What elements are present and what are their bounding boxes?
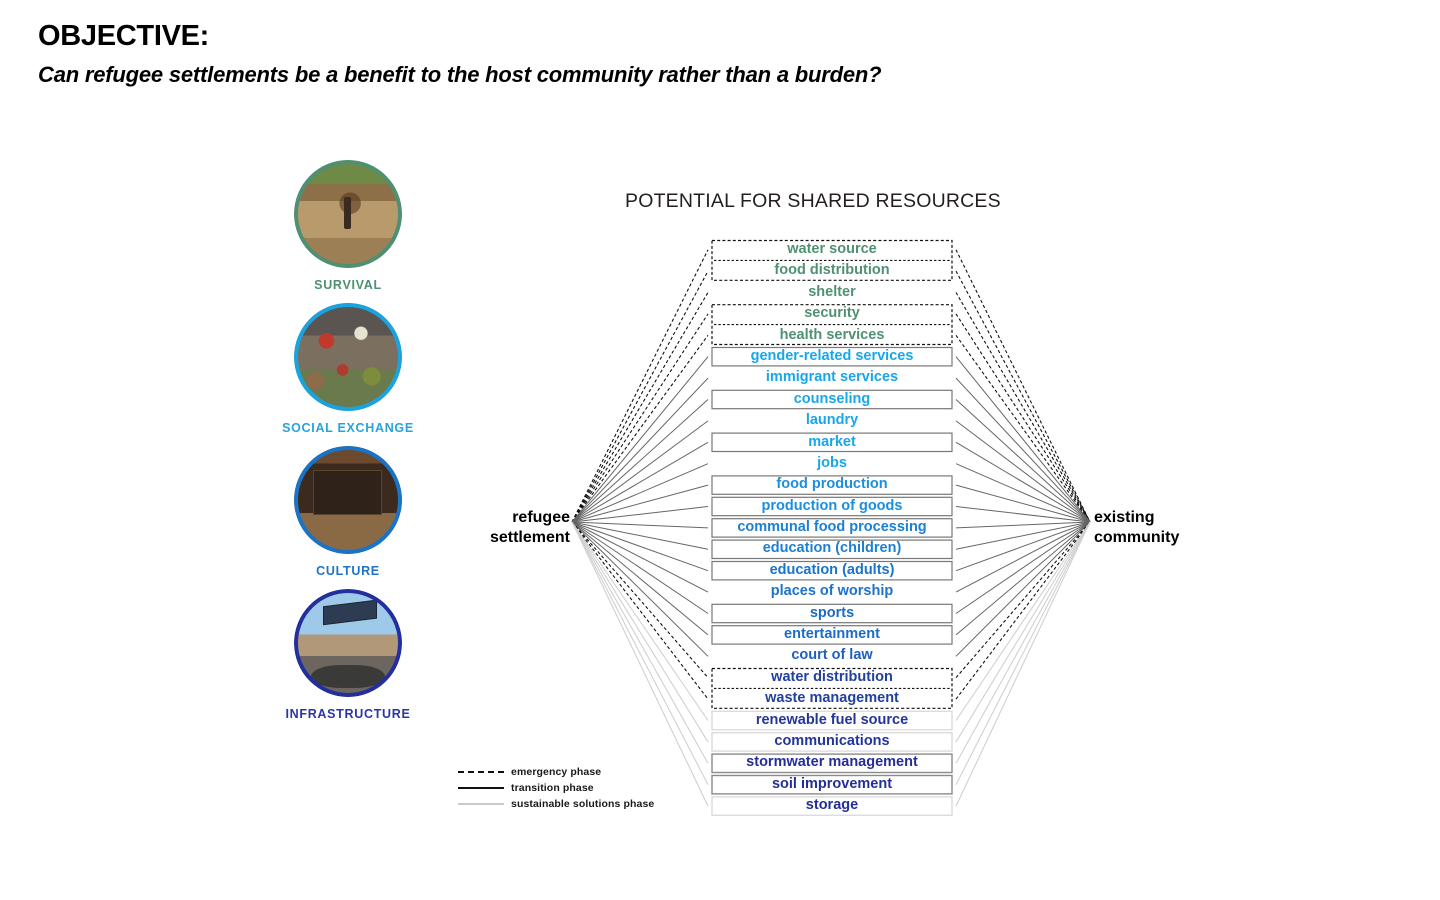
resource-row: immigrant services — [712, 367, 952, 388]
resource-row: sports — [712, 603, 952, 624]
connector-left — [572, 271, 708, 522]
connector-left — [572, 522, 708, 528]
connector-right — [956, 522, 1090, 699]
connector-right — [956, 522, 1090, 592]
connector-left — [572, 522, 708, 592]
connector-right — [956, 250, 1090, 522]
connector-left — [572, 522, 708, 763]
connector-left — [572, 357, 708, 522]
connector-left — [572, 335, 708, 522]
connector-right — [956, 522, 1090, 656]
connector-left — [572, 522, 708, 699]
resource-row: market — [712, 432, 952, 453]
resource-row: stormwater management — [712, 752, 952, 773]
connector-right — [956, 522, 1090, 721]
connector-left — [572, 522, 708, 656]
connector-left — [572, 250, 708, 522]
connector-right — [956, 507, 1090, 523]
connector-right — [956, 522, 1090, 763]
resource-row: jobs — [712, 453, 952, 474]
resource-row: soil improvement — [712, 774, 952, 795]
connector-left — [572, 522, 708, 785]
resource-row: renewable fuel source — [712, 710, 952, 731]
resource-row: production of goods — [712, 496, 952, 517]
connector-right — [956, 421, 1090, 522]
resource-row: security — [712, 303, 952, 324]
resource-row: counseling — [712, 389, 952, 410]
connector-right — [956, 522, 1090, 635]
resource-row: health services — [712, 325, 952, 346]
connector-left — [572, 522, 708, 742]
resource-row: entertainment — [712, 624, 952, 645]
resource-row: laundry — [712, 410, 952, 431]
resource-row: communal food processing — [712, 517, 952, 538]
resource-row: shelter — [712, 282, 952, 303]
connector-left — [572, 421, 708, 522]
resource-row: places of worship — [712, 581, 952, 602]
resource-row: education (children) — [712, 538, 952, 559]
connector-right — [956, 357, 1090, 522]
connector-right — [956, 293, 1090, 523]
connector-right — [956, 464, 1090, 522]
resource-row: court of law — [712, 645, 952, 666]
resource-row: communications — [712, 731, 952, 752]
connector-left — [572, 522, 708, 635]
resource-rows: water sourcefood distributionsheltersecu… — [712, 239, 952, 817]
connector-right — [956, 522, 1090, 528]
connector-right — [956, 378, 1090, 522]
connector-left — [572, 522, 708, 721]
resource-row: gender-related services — [712, 346, 952, 367]
resource-row: water distribution — [712, 667, 952, 688]
connector-left — [572, 522, 708, 806]
connector-left — [572, 507, 708, 523]
resource-row: waste management — [712, 688, 952, 709]
connector-right — [956, 271, 1090, 522]
resource-row: storage — [712, 795, 952, 816]
resource-row: water source — [712, 239, 952, 260]
resource-row: education (adults) — [712, 560, 952, 581]
connector-left — [572, 442, 708, 522]
slide-canvas: OBJECTIVE: Can refugee settlements be a … — [0, 0, 1440, 900]
connector-left — [572, 464, 708, 522]
resource-row: food production — [712, 474, 952, 495]
connector-right — [956, 522, 1090, 785]
connector-left — [572, 378, 708, 522]
resource-row: food distribution — [712, 260, 952, 281]
connector-right — [956, 335, 1090, 522]
connector-left — [572, 293, 708, 523]
connector-right — [956, 522, 1090, 806]
connector-right — [956, 522, 1090, 742]
